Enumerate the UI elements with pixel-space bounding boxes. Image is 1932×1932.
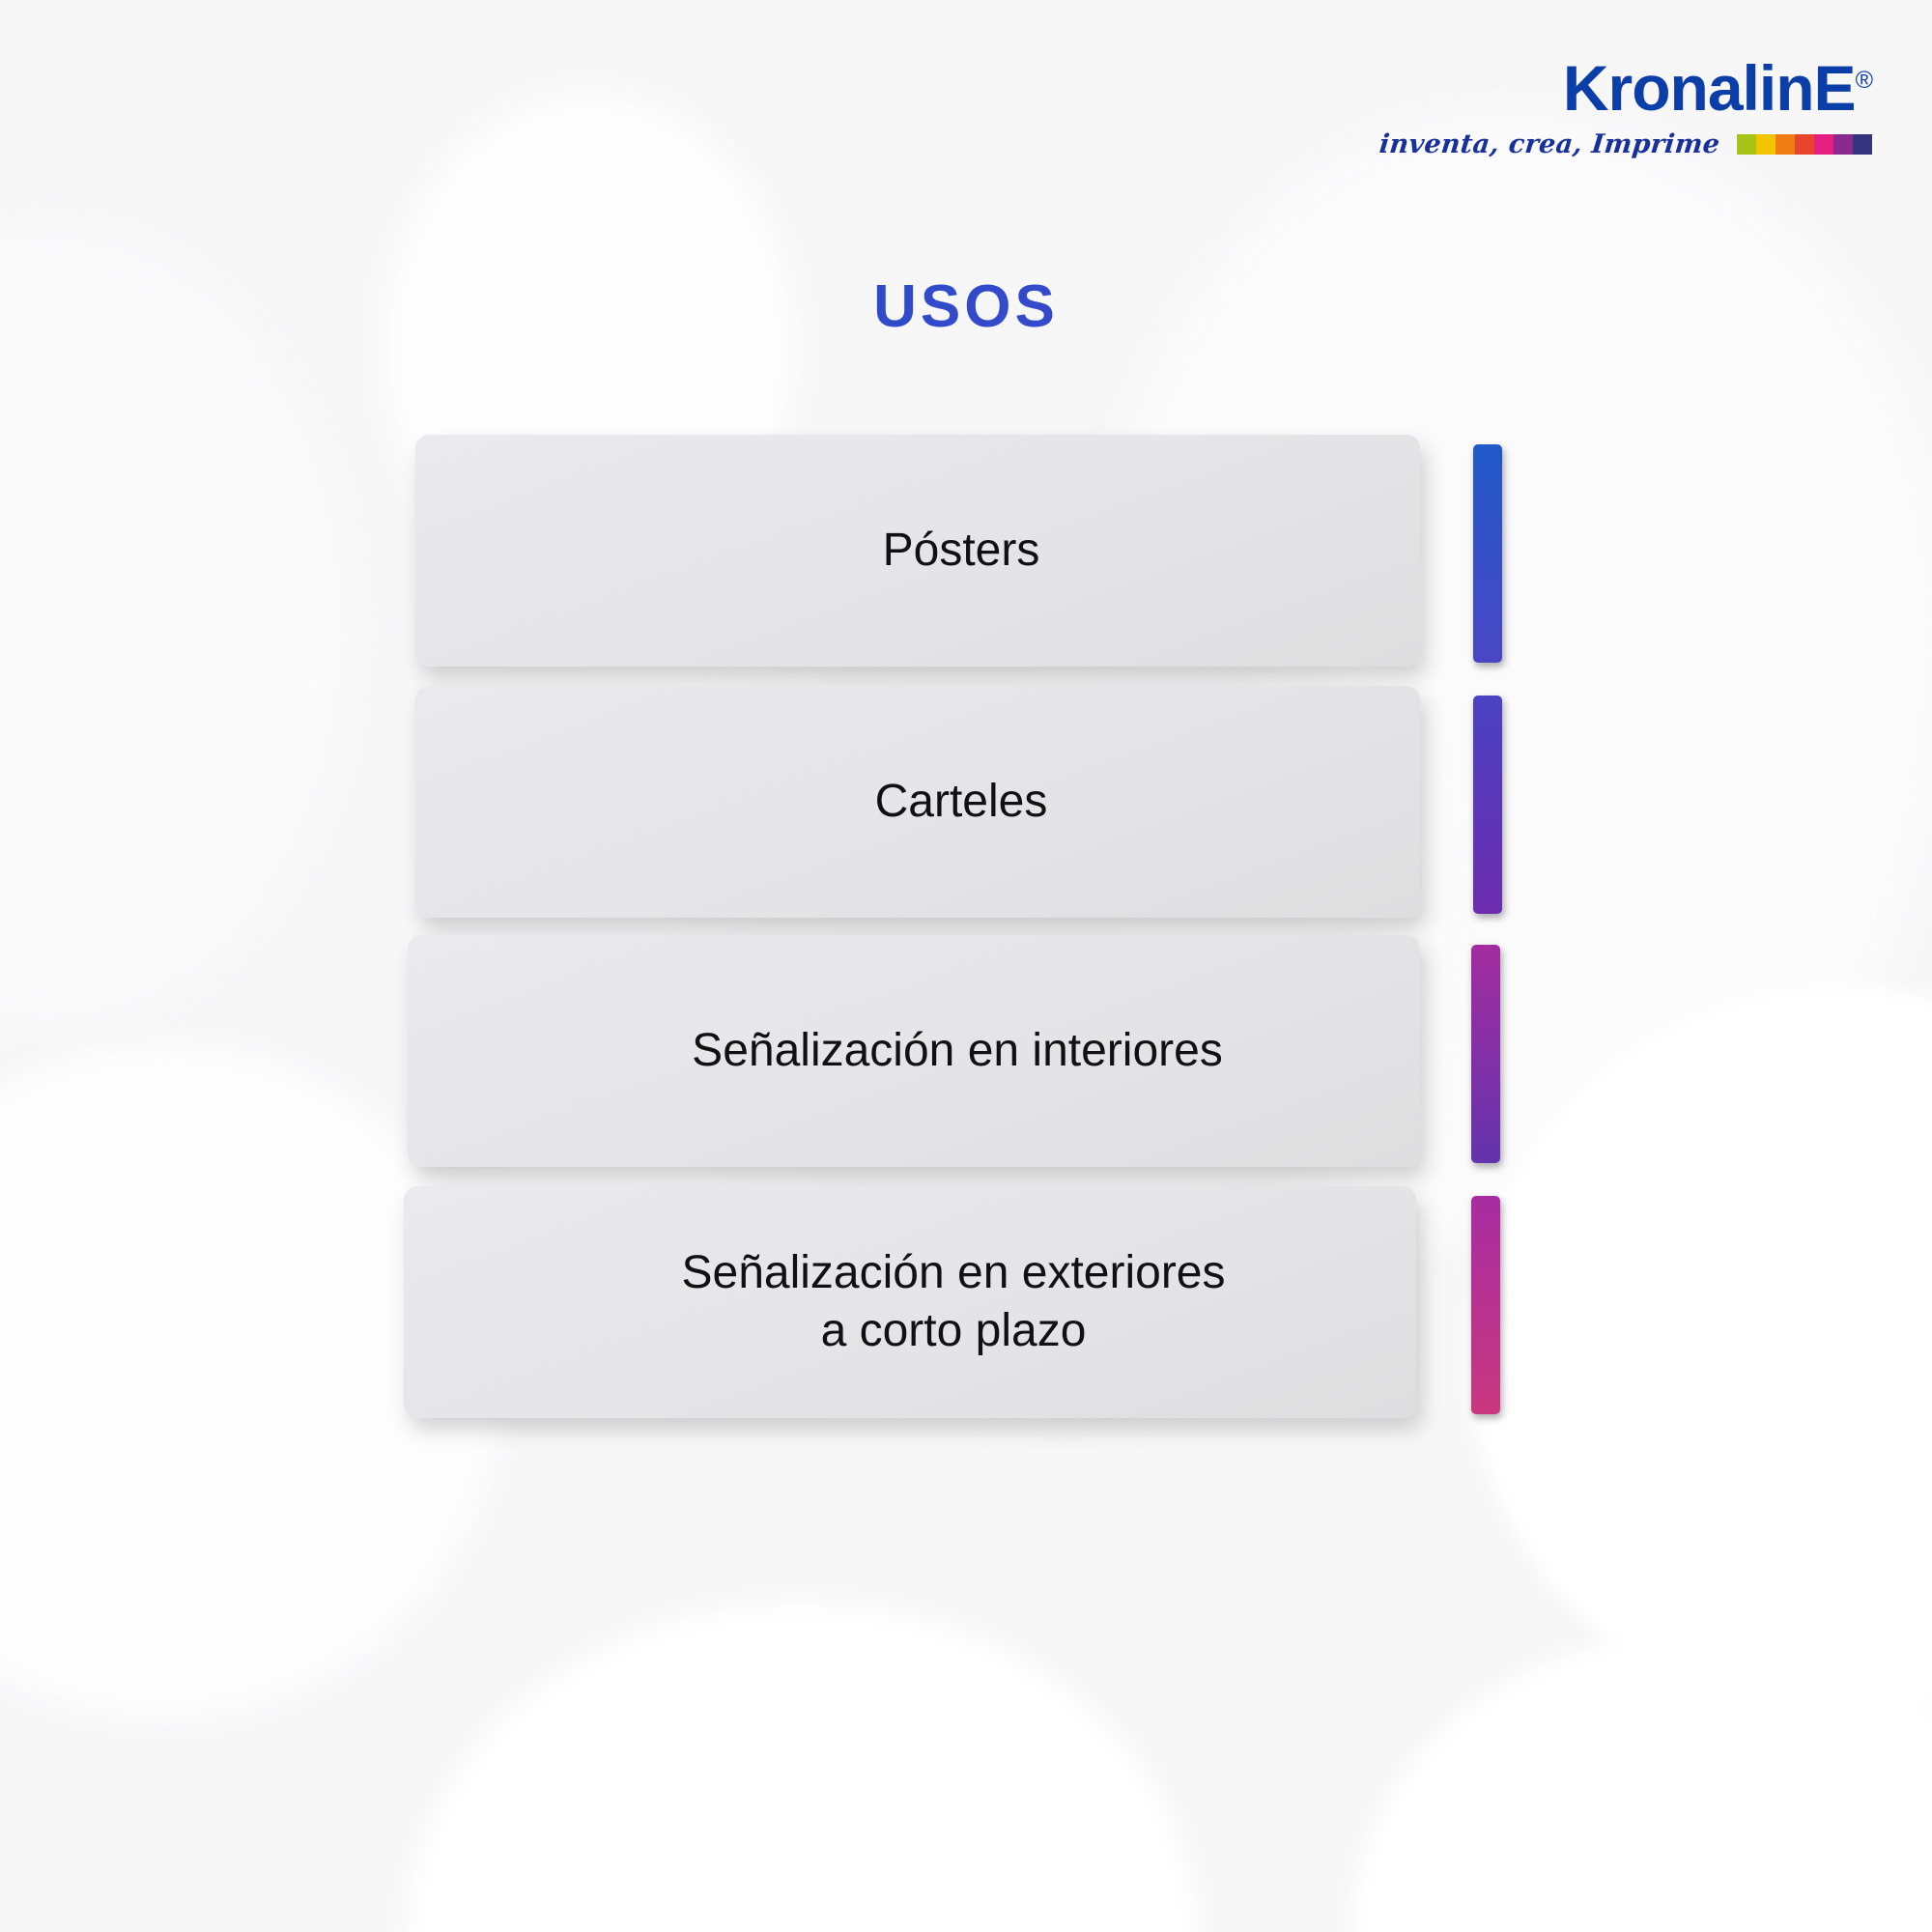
swatch-2 [1756,134,1776,155]
swatch-7 [1853,134,1872,155]
brand-wordmark: KronalinE® [1563,56,1872,120]
right-accent-bar [1473,444,1502,663]
registered-trademark-icon: ® [1856,67,1872,94]
card-label: Señalización en exteriores a corto plazo [682,1244,1226,1360]
brand-tagline-row: inventa, crea, Imprime [1379,129,1872,159]
right-accent-bar [1473,696,1502,914]
page-title: USOS [0,272,1932,341]
card-panel[interactable]: Señalización en interiores [408,935,1420,1167]
brand-logo: KronalinE® inventa, crea, Imprime [1379,56,1872,159]
card-label: Carteles [875,773,1048,831]
swatch-5 [1814,134,1833,155]
right-accent-bar [1471,1196,1500,1414]
card-panel[interactable]: Pósters [415,435,1420,667]
swatch-3 [1776,134,1795,155]
card-panel[interactable]: Carteles [415,686,1420,918]
swatch-4 [1795,134,1814,155]
card-label: Pósters [883,522,1040,580]
swatch-6 [1833,134,1853,155]
brand-color-swatches [1737,134,1872,155]
brand-tagline: inventa, crea, Imprime [1378,129,1720,159]
brand-name-text: KronalinE [1563,52,1856,124]
right-accent-bar [1471,945,1500,1163]
card-panel[interactable]: Señalización en exteriores a corto plazo [404,1186,1416,1418]
swatch-1 [1737,134,1756,155]
card-label: Señalización en interiores [692,1022,1223,1080]
